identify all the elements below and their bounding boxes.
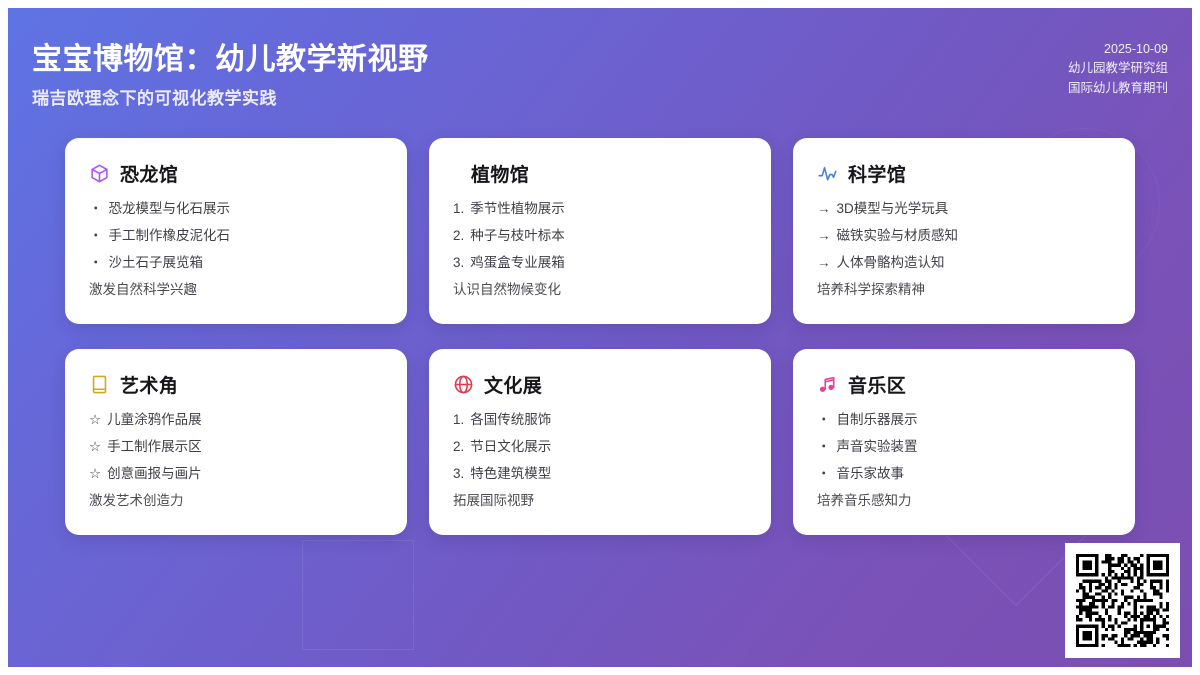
card-footer-note: 拓展国际视野: [453, 494, 747, 509]
list-item-label: 人体骨骼构造认知: [837, 256, 945, 271]
list-item-marker: 3.: [453, 467, 464, 482]
card-title: 恐龙馆: [120, 160, 178, 187]
list-item-label: 声音实验装置: [837, 440, 918, 455]
list-item-label: 种子与枝叶标本: [470, 229, 565, 244]
book-icon: [89, 374, 110, 395]
header-publication: 国际幼儿教育期刊: [1068, 79, 1168, 98]
list-item-label: 音乐家故事: [837, 467, 905, 482]
card-item-list: ☆儿童涂鸦作品展☆手工制作展示区☆创意画报与画片: [89, 413, 383, 482]
card-title: 音乐区: [848, 371, 906, 398]
list-item: 3.鸡蛋盒专业展箱: [453, 256, 747, 271]
qr-code: [1076, 554, 1169, 647]
card-title: 艺术角: [120, 371, 178, 398]
card-header: 艺术角: [89, 371, 383, 397]
card-footer-note: 激发自然科学兴趣: [89, 283, 383, 298]
exhibit-card[interactable]: 恐龙馆・恐龙模型与化石展示・手工制作橡皮泥化石・沙土石子展览箱激发自然科学兴趣: [65, 138, 407, 324]
list-item: 3.特色建筑模型: [453, 467, 747, 482]
card-grid: 恐龙馆・恐龙模型与化石展示・手工制作橡皮泥化石・沙土石子展览箱激发自然科学兴趣植…: [65, 138, 1135, 535]
list-item: ・恐龙模型与化石展示: [89, 202, 383, 217]
card-footer-note: 培养音乐感知力: [817, 494, 1111, 509]
list-item-marker: ・: [817, 413, 831, 428]
card-title: 文化展: [484, 371, 542, 398]
list-item-marker: ・: [89, 202, 103, 217]
list-item-marker: →: [817, 256, 831, 271]
list-item: ・沙土石子展览箱: [89, 256, 383, 271]
activity-pulse-icon: [817, 163, 838, 184]
list-item: →磁铁实验与材质感知: [817, 229, 1111, 244]
header-org: 幼儿园教学研究组: [1068, 59, 1168, 78]
card-item-list: ・恐龙模型与化石展示・手工制作橡皮泥化石・沙土石子展览箱: [89, 202, 383, 271]
card-header: 音乐区: [817, 371, 1111, 397]
list-item-label: 自制乐器展示: [837, 413, 918, 428]
card-header: 恐龙馆: [89, 160, 383, 186]
list-item-label: 手工制作展示区: [107, 440, 202, 455]
card-title: 科学馆: [848, 160, 906, 187]
list-item-label: 鸡蛋盒专业展箱: [470, 256, 565, 271]
list-item-label: 儿童涂鸦作品展: [107, 413, 202, 428]
card-icon-placeholder: [453, 163, 461, 184]
list-item-marker: ☆: [89, 440, 101, 455]
list-item-marker: ・: [89, 229, 103, 244]
list-item-marker: ・: [817, 440, 831, 455]
list-item-marker: →: [817, 229, 831, 244]
list-item: ☆手工制作展示区: [89, 440, 383, 455]
page-subtitle: 瑞吉欧理念下的可视化教学实践: [32, 84, 277, 109]
list-item: ・音乐家故事: [817, 467, 1111, 482]
header-meta: 2025-10-09 幼儿园教学研究组 国际幼儿教育期刊: [1068, 40, 1168, 98]
list-item: →3D模型与光学玩具: [817, 202, 1111, 217]
slide-root: 宝宝博物馆：幼儿教学新视野 瑞吉欧理念下的可视化教学实践 2025-10-09 …: [0, 0, 1200, 675]
music-note-icon: [817, 374, 838, 395]
header-date: 2025-10-09: [1068, 40, 1168, 59]
list-item: 1.各国传统服饰: [453, 413, 747, 428]
list-item-label: 磁铁实验与材质感知: [837, 229, 959, 244]
cube-icon: [89, 163, 110, 184]
list-item-marker: 3.: [453, 256, 464, 271]
card-item-list: 1.季节性植物展示2.种子与枝叶标本3.鸡蛋盒专业展箱: [453, 202, 747, 271]
exhibit-card[interactable]: 音乐区・自制乐器展示・声音实验装置・音乐家故事培养音乐感知力: [793, 349, 1135, 535]
list-item-label: 恐龙模型与化石展示: [109, 202, 231, 217]
list-item-marker: 1.: [453, 202, 464, 217]
list-item-label: 特色建筑模型: [470, 467, 551, 482]
card-footer-note: 认识自然物候变化: [453, 283, 747, 298]
exhibit-card[interactable]: 艺术角☆儿童涂鸦作品展☆手工制作展示区☆创意画报与画片激发艺术创造力: [65, 349, 407, 535]
list-item: 1.季节性植物展示: [453, 202, 747, 217]
list-item-marker: ・: [89, 256, 103, 271]
list-item-marker: ☆: [89, 413, 101, 428]
list-item: 2.种子与枝叶标本: [453, 229, 747, 244]
list-item-label: 创意画报与画片: [107, 467, 202, 482]
list-item: ・手工制作橡皮泥化石: [89, 229, 383, 244]
list-item-marker: ・: [817, 467, 831, 482]
list-item: ☆儿童涂鸦作品展: [89, 413, 383, 428]
card-footer-note: 激发艺术创造力: [89, 494, 383, 509]
globe-icon: [453, 374, 474, 395]
list-item-label: 各国传统服饰: [470, 413, 551, 428]
list-item: ・自制乐器展示: [817, 413, 1111, 428]
list-item: →人体骨骼构造认知: [817, 256, 1111, 271]
list-item-marker: ☆: [89, 467, 101, 482]
card-title: 植物馆: [471, 160, 529, 187]
exhibit-card[interactable]: 植物馆1.季节性植物展示2.种子与枝叶标本3.鸡蛋盒专业展箱认识自然物候变化: [429, 138, 771, 324]
card-header: 文化展: [453, 371, 747, 397]
slide-header: 宝宝博物馆：幼儿教学新视野 瑞吉欧理念下的可视化教学实践 2025-10-09 …: [8, 8, 1192, 128]
card-header: 植物馆: [453, 160, 747, 186]
list-item-label: 沙土石子展览箱: [109, 256, 204, 271]
card-footer-note: 培养科学探索精神: [817, 283, 1111, 298]
card-item-list: 1.各国传统服饰2.节日文化展示3.特色建筑模型: [453, 413, 747, 482]
exhibit-card[interactable]: 科学馆→3D模型与光学玩具→磁铁实验与材质感知→人体骨骼构造认知培养科学探索精神: [793, 138, 1135, 324]
list-item-label: 3D模型与光学玩具: [837, 202, 949, 217]
exhibit-card[interactable]: 文化展1.各国传统服饰2.节日文化展示3.特色建筑模型拓展国际视野: [429, 349, 771, 535]
card-item-list: ・自制乐器展示・声音实验装置・音乐家故事: [817, 413, 1111, 482]
list-item-marker: 1.: [453, 413, 464, 428]
page-title: 宝宝博物馆：幼儿教学新视野: [32, 34, 429, 78]
list-item: 2.节日文化展示: [453, 440, 747, 455]
card-header: 科学馆: [817, 160, 1111, 186]
list-item: ・声音实验装置: [817, 440, 1111, 455]
list-item-label: 节日文化展示: [470, 440, 551, 455]
list-item-label: 季节性植物展示: [470, 202, 565, 217]
qr-code-panel[interactable]: [1065, 543, 1180, 658]
list-item-label: 手工制作橡皮泥化石: [109, 229, 231, 244]
list-item: ☆创意画报与画片: [89, 467, 383, 482]
list-item-marker: 2.: [453, 229, 464, 244]
card-item-list: →3D模型与光学玩具→磁铁实验与材质感知→人体骨骼构造认知: [817, 202, 1111, 271]
list-item-marker: →: [817, 202, 831, 217]
list-item-marker: 2.: [453, 440, 464, 455]
